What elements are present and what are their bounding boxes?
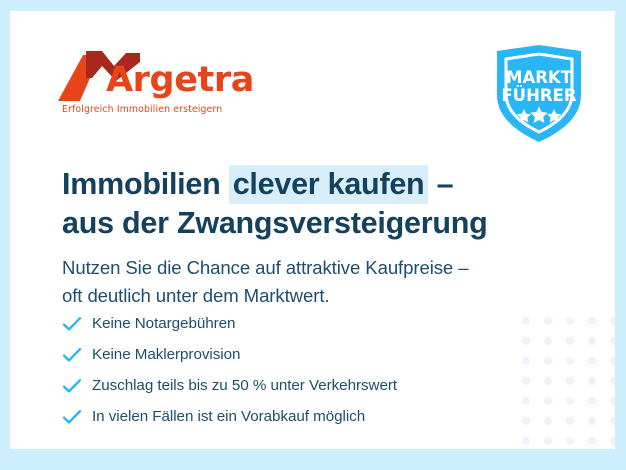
dot — [588, 377, 596, 385]
headline-highlight: clever kaufen — [229, 165, 429, 204]
dot — [566, 317, 574, 325]
subheading-line1: Nutzen Sie die Chance auf attraktive Kau… — [62, 257, 468, 278]
dot — [588, 397, 596, 405]
dot — [610, 417, 615, 425]
dot — [522, 357, 530, 365]
dot — [588, 357, 596, 365]
logo-tagline: Erfolgreich Immobilien ersteigern — [62, 104, 222, 115]
list-item: In vielen Fällen ist ein Vorabkauf mögli… — [62, 401, 502, 432]
dot — [544, 437, 552, 445]
benefit-label: Keine Maklerprovision — [92, 346, 240, 363]
check-icon — [62, 347, 92, 363]
page-subtitle: Nutzen Sie die Chance auf attraktive Kau… — [62, 254, 542, 311]
headline-line1-after: – — [428, 167, 453, 201]
dot — [544, 317, 552, 325]
logo-wordmark: Argetra — [106, 63, 254, 98]
badge-line1: MARKT — [506, 68, 573, 87]
dot — [610, 437, 615, 445]
headline-line1-before: Immobilien — [62, 167, 229, 201]
dot — [588, 437, 596, 445]
dot — [610, 357, 615, 365]
list-item: Zuschlag teils bis zu 50 % unter Verkehr… — [62, 370, 502, 401]
dot — [522, 317, 530, 325]
check-icon — [62, 316, 92, 332]
dot-grid-decoration — [522, 317, 615, 449]
dot — [566, 437, 574, 445]
list-item: Keine Notargebühren — [62, 308, 502, 339]
dot — [544, 357, 552, 365]
page-title: Immobilien clever kaufen –aus der Zwangs… — [62, 165, 532, 243]
dot — [588, 337, 596, 345]
dot — [588, 417, 596, 425]
dot — [566, 397, 574, 405]
benefit-label: Zuschlag teils bis zu 50 % unter Verkehr… — [92, 377, 397, 394]
badge-line2: FÜHRER — [501, 86, 576, 105]
markt-fuehrer-badge: MARKT FÜHRER — [491, 43, 587, 145]
dot — [522, 437, 530, 445]
dot — [610, 397, 615, 405]
dot — [588, 317, 596, 325]
benefit-label: Keine Notargebühren — [92, 315, 235, 332]
benefits-list: Keine Notargebühren Keine Maklerprovisio… — [62, 308, 502, 432]
list-item: Keine Maklerprovision — [62, 339, 502, 370]
subheading-line2: oft deutlich unter dem Marktwert. — [62, 285, 329, 306]
dot — [544, 417, 552, 425]
dot — [610, 337, 615, 345]
dot — [522, 417, 530, 425]
headline-line2: aus der Zwangsversteigerung — [62, 206, 487, 240]
dot — [610, 317, 615, 325]
benefit-label: In vielen Fällen ist ein Vorabkauf mögli… — [92, 408, 365, 425]
dot — [544, 397, 552, 405]
dot — [566, 357, 574, 365]
dot — [566, 417, 574, 425]
ad-banner-frame: Argetra Erfolgreich Immobilien ersteiger… — [0, 0, 626, 470]
dot — [566, 337, 574, 345]
dot — [544, 337, 552, 345]
dot — [522, 337, 530, 345]
ad-banner-card: Argetra Erfolgreich Immobilien ersteiger… — [10, 11, 615, 449]
dot — [522, 377, 530, 385]
argetra-logo[interactable]: Argetra Erfolgreich Immobilien ersteiger… — [56, 49, 246, 121]
dot — [566, 377, 574, 385]
check-icon — [62, 378, 92, 394]
dot — [522, 397, 530, 405]
dot — [610, 377, 615, 385]
dot — [544, 377, 552, 385]
check-icon — [62, 409, 92, 425]
